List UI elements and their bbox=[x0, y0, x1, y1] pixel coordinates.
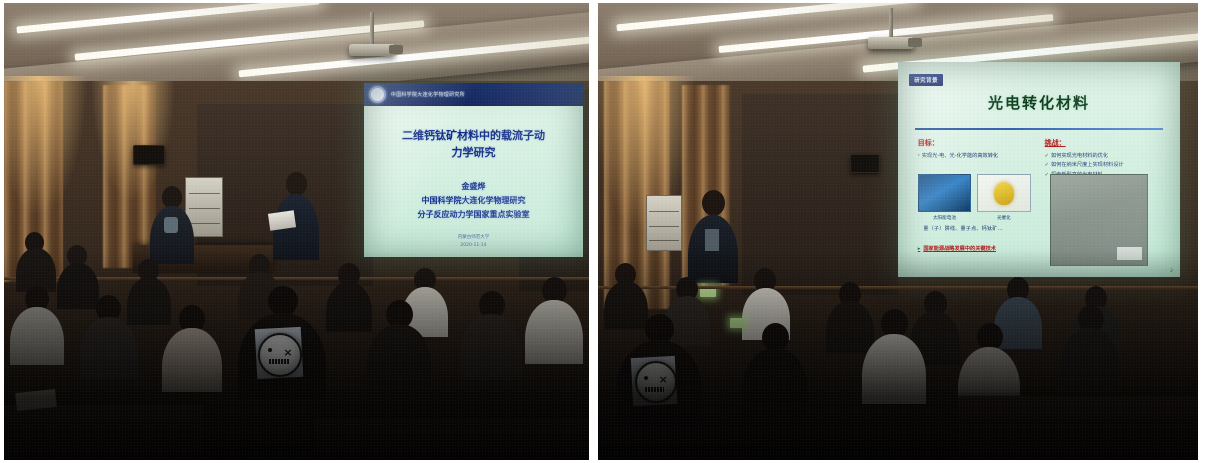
wall-speaker-icon bbox=[850, 154, 880, 173]
ceiling-projector bbox=[868, 37, 914, 49]
slide-title: 中国科学院大连化学物理研究所 二维钙钛矿材料中的载流子动 力学研究 金盛烨 中国… bbox=[364, 83, 583, 257]
photo-left: 中国科学院大连化学物理研究所 二维钙钛矿材料中的载流子动 力学研究 金盛烨 中国… bbox=[4, 3, 589, 460]
person-shirt bbox=[705, 229, 719, 251]
equipment-cabinet bbox=[646, 195, 682, 251]
person-collar bbox=[164, 217, 178, 233]
person-head bbox=[702, 190, 725, 216]
projection-screen: 中国科学院大连化学物理研究所 二维钙钛矿材料中的载流子动 力学研究 金盛烨 中国… bbox=[364, 83, 583, 257]
photo-shadow-overlay bbox=[598, 250, 1198, 460]
curtain-light-glow bbox=[92, 81, 174, 200]
photo-right: 研究背景 光电转化材料 目标： ·实现光-电、光-化学能的高效转化 挑战： ✓如… bbox=[598, 3, 1198, 460]
photo-shadow-overlay bbox=[4, 250, 589, 460]
wall-speaker-icon bbox=[133, 145, 165, 165]
photo-gallery: 中国科学院大连化学物理研究所 二维钙钛矿材料中的载流子动 力学研究 金盛烨 中国… bbox=[0, 0, 1210, 463]
curtain-light-glow bbox=[4, 76, 86, 213]
standing-speaker bbox=[273, 172, 319, 258]
ceiling-projector bbox=[349, 44, 395, 56]
paper-sheet bbox=[268, 210, 296, 230]
person-head bbox=[286, 172, 307, 196]
projection-screen: 研究背景 光电转化材料 目标： ·实现光-电、光-化学能的高效转化 挑战： ✓如… bbox=[898, 62, 1180, 277]
slide-content: 研究背景 光电转化材料 目标： ·实现光-电、光-化学能的高效转化 挑战： ✓如… bbox=[898, 62, 1180, 277]
